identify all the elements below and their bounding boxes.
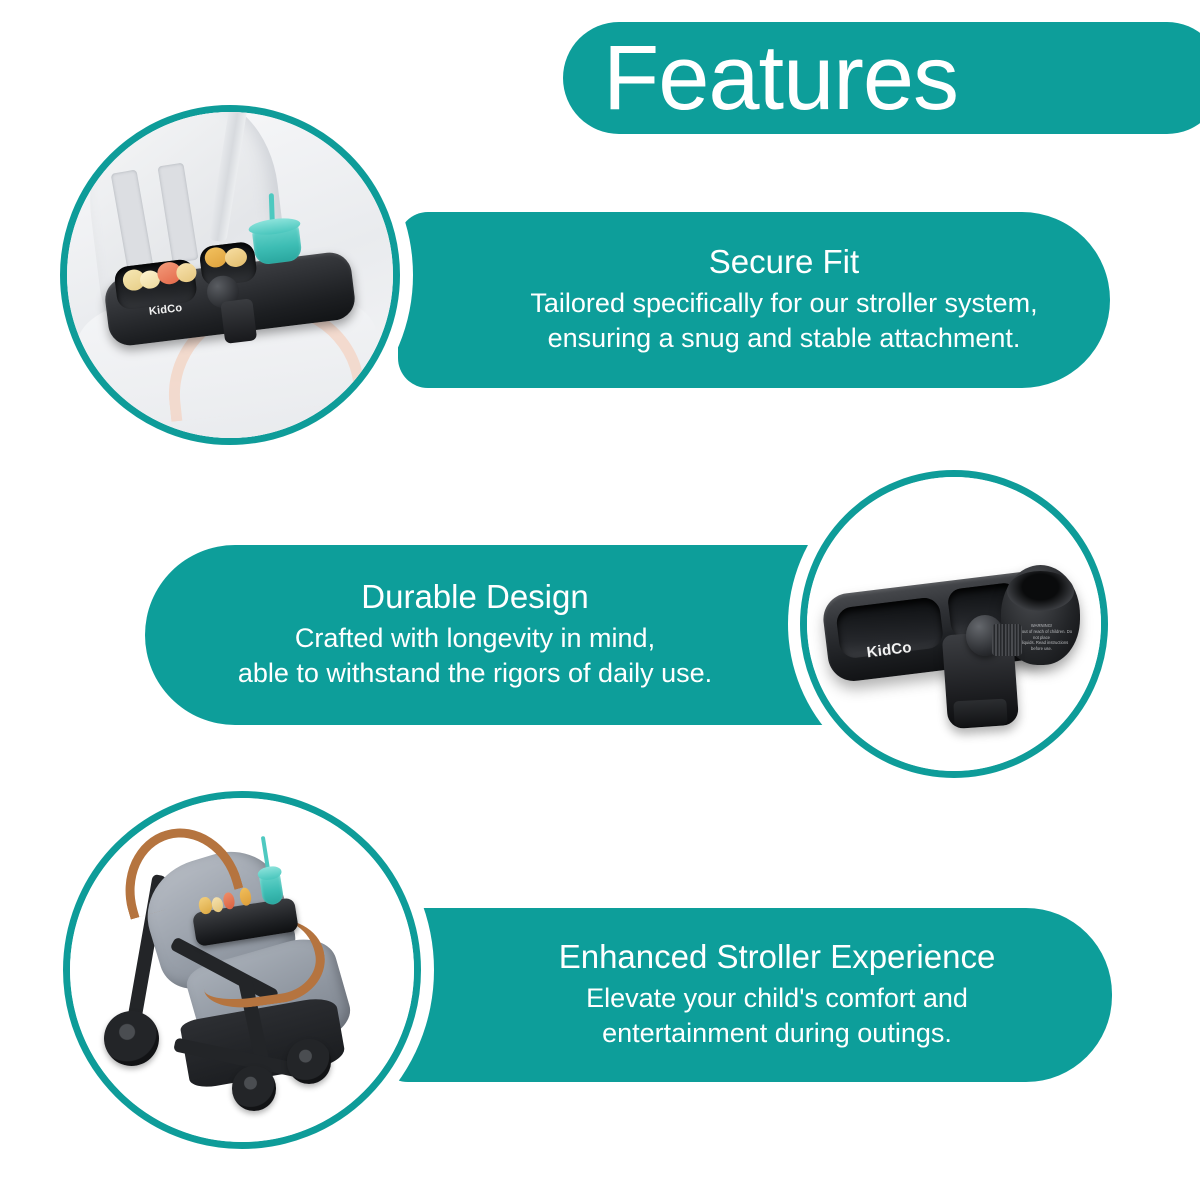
- stroller-wheel: [287, 1039, 332, 1084]
- page-title: Features: [563, 32, 958, 124]
- feature-banner-durable-design: Durable Design Crafted with longevity in…: [145, 545, 857, 725]
- clamp-foot: [953, 699, 1007, 728]
- feature-body-line-2: entertainment during outings.: [602, 1016, 952, 1051]
- features-title-banner: Features: [563, 22, 1200, 134]
- clamp-adjust-screw: [992, 624, 1021, 656]
- feature-image-secure-fit: KidCo: [60, 105, 400, 445]
- product-closeup-photo: KidCo WARNING! Keep out of reach of chil…: [807, 477, 1101, 771]
- feature-banner-enhanced-experience: Enhanced Stroller Experience Elevate you…: [378, 908, 1112, 1082]
- feature-banner-secure-fit: Secure Fit Tailored specifically for our…: [398, 212, 1110, 388]
- feature-body-line-2: able to withstand the rigors of daily us…: [238, 656, 712, 691]
- clamp-arm: [220, 298, 257, 344]
- cup-holder-rim: [1007, 571, 1074, 611]
- feature-body-line-1: Tailored specifically for our stroller s…: [530, 286, 1037, 321]
- feature-image-durable-design: KidCo WARNING! Keep out of reach of chil…: [800, 470, 1108, 778]
- feature-body-line-2: ensuring a snug and stable attachment.: [548, 321, 1021, 356]
- stroller-seat-photo: KidCo: [67, 112, 393, 438]
- feature-body-line-1: Crafted with longevity in mind,: [295, 621, 655, 656]
- feature-title: Enhanced Stroller Experience: [559, 938, 996, 977]
- feature-title: Durable Design: [361, 578, 588, 617]
- infographic-canvas: Features Secure Fit Tailored specificall…: [0, 0, 1200, 1200]
- feature-image-enhanced-experience: [63, 791, 421, 1149]
- stroller-wheel: [232, 1066, 277, 1111]
- feature-body-line-1: Elevate your child's comfort and: [586, 981, 968, 1016]
- stroller-wheel: [104, 1011, 159, 1066]
- full-stroller-photo: [70, 798, 414, 1142]
- feature-title: Secure Fit: [709, 243, 859, 282]
